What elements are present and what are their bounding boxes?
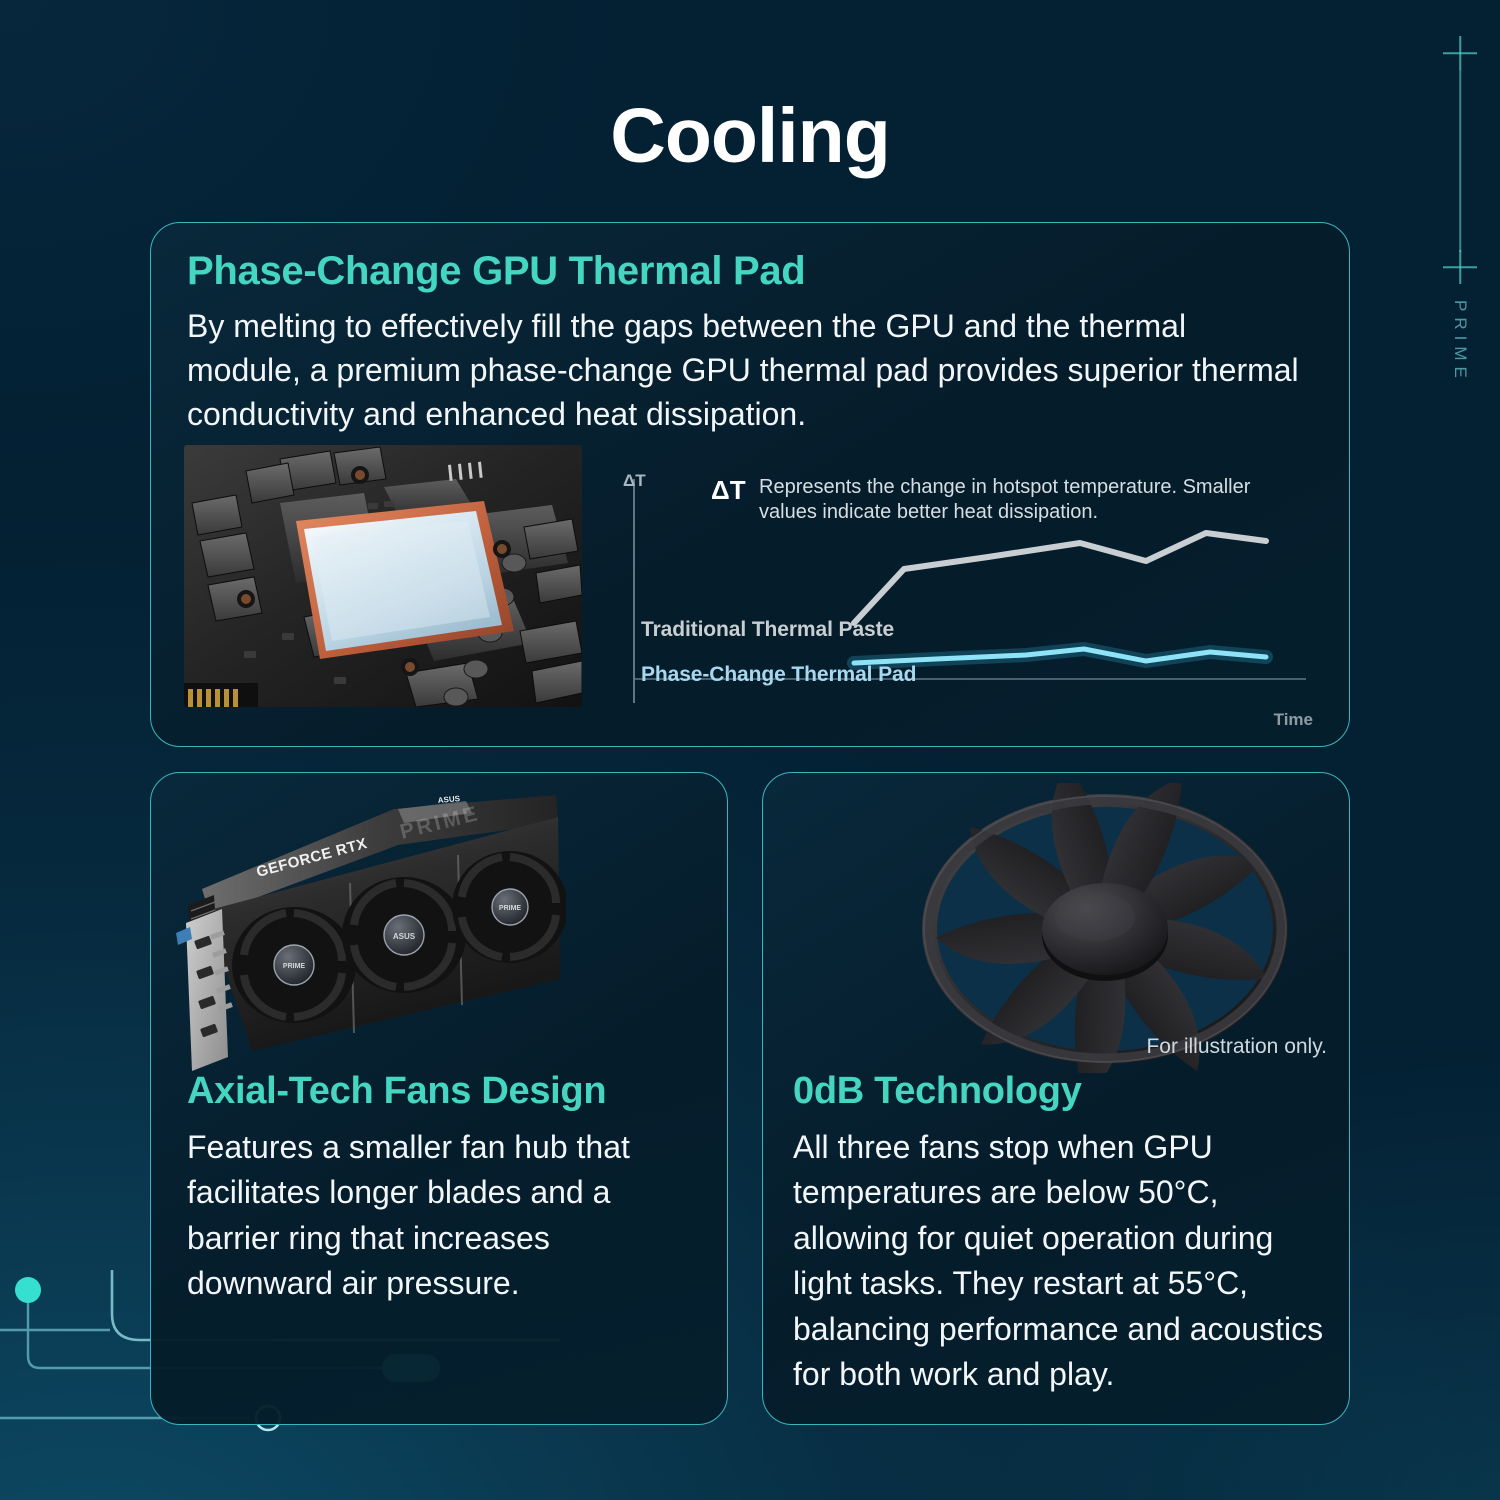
chart-legend-traditional: Traditional Thermal Paste bbox=[641, 618, 894, 642]
svg-text:ASUS: ASUS bbox=[393, 932, 416, 941]
chart-y-axis-label: ΔT bbox=[623, 471, 646, 491]
gpu-die-photo bbox=[184, 445, 582, 707]
svg-text:PRIME: PRIME bbox=[499, 905, 522, 912]
card-body-0db: All three fans stop when GPU temperature… bbox=[793, 1125, 1333, 1398]
chart-x-axis-label: Time bbox=[1274, 710, 1313, 730]
page-title: Cooling bbox=[0, 92, 1500, 181]
graphics-card-photo: ASUS PRIME GEFORCE RTX PRIME bbox=[166, 783, 566, 1083]
svg-text:PRIME: PRIME bbox=[283, 963, 306, 970]
chart-legend-phase-change: Phase-Change Thermal Pad bbox=[641, 663, 916, 687]
card-body-thermal-pad: By melting to effectively fill the gaps … bbox=[187, 305, 1302, 436]
card-axial-tech-fans: ASUS PRIME GEFORCE RTX PRIME bbox=[150, 772, 728, 1425]
circuit-node-dot bbox=[15, 1277, 41, 1303]
card-title-axial-fans: Axial-Tech Fans Design bbox=[187, 1070, 606, 1113]
card-title-0db: 0dB Technology bbox=[793, 1070, 1082, 1113]
card-0db-technology: For illustration only. 0dB Technology Al… bbox=[762, 772, 1350, 1425]
card-title-thermal-pad: Phase-Change GPU Thermal Pad bbox=[187, 249, 805, 294]
fan-illustration-caption: For illustration only. bbox=[1146, 1035, 1327, 1059]
series-traditional-thermal-paste bbox=[854, 533, 1266, 623]
axial-fan-photo bbox=[873, 783, 1343, 1073]
card-phase-change-thermal-pad: Phase-Change GPU Thermal Pad By melting … bbox=[150, 222, 1350, 747]
card-body-axial-fans: Features a smaller fan hub that facilita… bbox=[187, 1125, 697, 1307]
delta-t-note: Represents the change in hotspot tempera… bbox=[711, 475, 1271, 525]
